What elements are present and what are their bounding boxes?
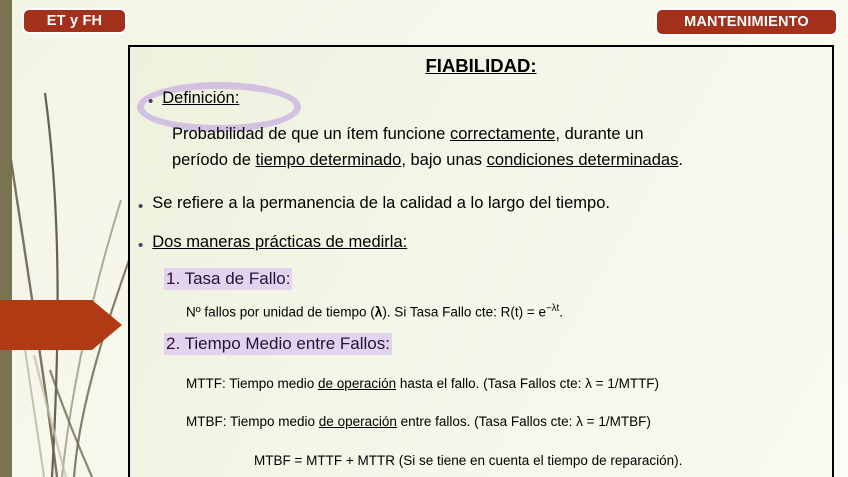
item1-detail-b: ). Si Tasa Fallo cte: R(t) = e [382, 305, 546, 320]
bullet-dot-icon: • [148, 94, 153, 109]
item2-heading: 2. Tiempo Medio entre Fallos: [164, 333, 392, 355]
item1-detail-a: Nº fallos por unidad de tiempo ( [186, 305, 375, 320]
bullet-definicion: • Definición: [148, 89, 239, 109]
mtbf-underlined: de operación [319, 414, 397, 429]
def-line2-a: período de [172, 151, 255, 169]
badge-et-y-fh[interactable]: ET y FH [22, 8, 127, 34]
mttf-a: MTTF: Tiempo medio [186, 376, 318, 391]
badge-mantenimiento[interactable]: MANTENIMIENTO [655, 8, 838, 36]
slide-canvas: ET y FH MANTENIMIENTO FIABILIDAD: • Defi… [0, 0, 848, 477]
item1-detail-superscript: −λt [546, 303, 559, 314]
item1-heading-wrap: 1. Tasa de Fallo: [164, 269, 292, 289]
def-line1-underlined: correctamente [450, 125, 555, 143]
bullet-dos-maneras: • Dos maneras prácticas de medirla: [138, 233, 407, 253]
bullet-permanencia-label: Se refiere a la permanencia de la calida… [152, 194, 610, 213]
item2-mtbf-line: MTBF: Tiempo medio de operación entre fa… [186, 414, 651, 429]
item2-mttf-line: MTTF: Tiempo medio de operación hasta el… [186, 376, 659, 391]
badge-left-label: ET y FH [47, 14, 102, 29]
mtbf-b: entre fallos. (Tasa Fallos cte: λ = 1/MT… [397, 414, 651, 429]
bullet-dot-icon: • [138, 238, 143, 253]
def-line2-b: , bajo unas [401, 151, 486, 169]
def-line2-c: . [678, 151, 683, 169]
content-panel: FIABILIDAD: • Definición: Probabilidad d… [128, 45, 834, 477]
def-line1-b: , durante un [555, 125, 643, 143]
mttf-underlined: de operación [318, 376, 396, 391]
item1-detail: Nº fallos por unidad de tiempo (λ). Si T… [186, 303, 563, 320]
item2-formula-line: MTBF = MTTF + MTTR (Si se tiene en cuent… [254, 453, 682, 468]
item2-heading-wrap: 2. Tiempo Medio entre Fallos: [164, 334, 392, 354]
def-line2-underlined-2: condiciones determinadas [487, 151, 679, 169]
def-line1-a: Probabilidad de que un ítem funcione [172, 125, 450, 143]
bullet-definicion-label: Definición: [162, 89, 239, 108]
bullet-dot-icon: • [138, 199, 143, 214]
mttf-b: hasta el fallo. (Tasa Fallos cte: λ = 1/… [396, 376, 659, 391]
item1-heading: 1. Tasa de Fallo: [164, 268, 292, 290]
decorative-grass-graphic [0, 0, 140, 477]
badge-right-label: MANTENIMIENTO [684, 15, 809, 30]
mtbf-a: MTBF: Tiempo medio [186, 414, 319, 429]
bullet-permanencia: • Se refiere a la permanencia de la cali… [138, 194, 610, 214]
definition-paragraph-line1: Probabilidad de que un ítem funcione cor… [172, 125, 644, 144]
definition-paragraph-line2: período de tiempo determinado, bajo unas… [172, 151, 683, 170]
page-title: FIABILIDAD: [130, 55, 832, 77]
bullet-dos-maneras-label: Dos maneras prácticas de medirla: [152, 233, 407, 252]
left-olive-bar [0, 0, 12, 477]
item1-detail-c: . [559, 305, 563, 320]
red-arrow-shape [0, 296, 122, 354]
def-line2-underlined-1: tiempo determinado [255, 151, 401, 169]
